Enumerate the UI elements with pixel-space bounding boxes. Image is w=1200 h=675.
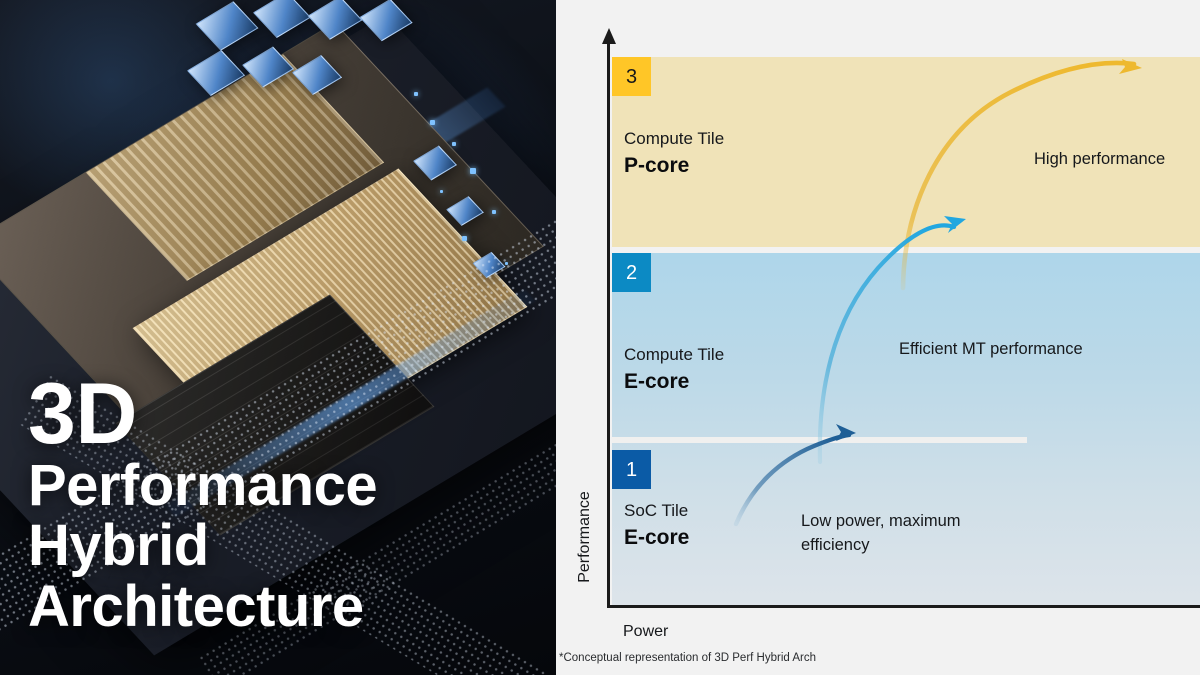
tile-label-group-pcore: Compute Tile P-core	[624, 128, 724, 180]
band-badge-3: 3	[612, 57, 651, 96]
chip-spark	[462, 236, 467, 241]
chip-spark	[430, 120, 435, 125]
chip-spark	[492, 210, 496, 214]
callout-low-power: Low power, maximum efficiency	[801, 510, 1001, 558]
performance-power-chart: 3 2 1 Compute Tile P-core Compute Tile E…	[556, 0, 1200, 675]
tile-kicker-soc-ecore: SoC Tile	[624, 500, 689, 521]
chart-footnote: *Conceptual representation of 3D Perf Hy…	[559, 652, 816, 664]
chip-spark	[470, 168, 476, 174]
band-badge-2: 2	[612, 253, 651, 292]
x-axis-label: Power	[623, 623, 668, 641]
tile-name-pcore: P-core	[624, 152, 724, 179]
chip-spark	[440, 190, 443, 193]
x-axis-line	[607, 605, 1200, 608]
headline-subtitle-group: Performance Hybrid Architecture	[28, 456, 377, 637]
tile-kicker-pcore: Compute Tile	[624, 128, 724, 149]
tile-name-compute-ecore: E-core	[624, 368, 724, 395]
y-axis-label: Performance	[576, 489, 594, 585]
tile-kicker-compute-ecore: Compute Tile	[624, 344, 724, 365]
headline-line-2: Performance	[28, 456, 377, 516]
left-hero-panel: 3D Performance Hybrid Architecture	[0, 0, 556, 675]
right-chart-panel: 3 2 1 Compute Tile P-core Compute Tile E…	[556, 0, 1200, 675]
y-axis-line	[607, 42, 610, 608]
tile-label-group-soc-ecore: SoC Tile E-core	[624, 500, 689, 552]
tile-label-group-compute-ecore: Compute Tile E-core	[624, 344, 724, 396]
headline-line-3: Hybrid	[28, 516, 377, 576]
chip-spark	[452, 142, 456, 146]
hero-headline: 3D Performance Hybrid Architecture	[28, 374, 377, 637]
slide-root: 3D Performance Hybrid Architecture	[0, 0, 1200, 675]
callout-high-performance: High performance	[1034, 148, 1165, 172]
band-badge-1: 1	[612, 450, 651, 489]
tile-name-soc-ecore: E-core	[624, 524, 689, 551]
headline-line-4: Architecture	[28, 577, 377, 637]
chip-spark	[414, 92, 418, 96]
headline-line-1: 3D	[28, 374, 377, 456]
band-divider-bar	[612, 437, 1027, 443]
callout-efficient-mt: Efficient MT performance	[899, 338, 1083, 362]
